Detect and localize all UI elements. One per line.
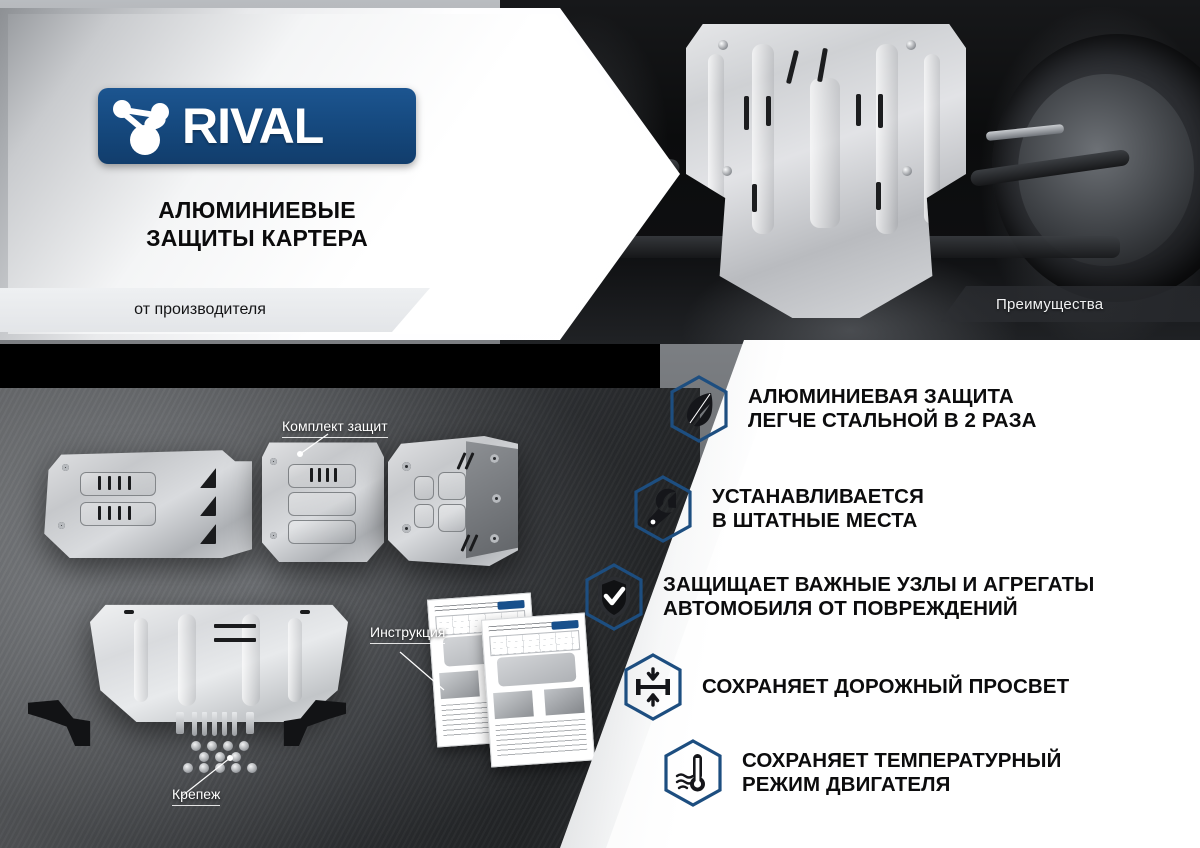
plate-hole-bl [58,522,65,529]
plate-slot-6 [108,506,111,520]
plate-bolt-tr [906,40,916,50]
large-plate-rib-4 [288,618,302,702]
plate-hole-br [490,534,499,543]
feature-line-1: АЛЮМИНИЕВАЯ ЗАЩИТА [748,385,1014,408]
feature-line-2: В ШТАТНЫЕ МЕСТА [712,509,924,533]
plate-pad-1 [414,476,434,500]
sheet-photo-1 [493,690,533,719]
plate-vent-1 [744,96,749,130]
feature-label: УСТАНАВЛИВАЕТСЯ В ШТАТНЫЕ МЕСТА [712,485,924,533]
plate-hole-tr [490,454,499,463]
feature-label: ЗАЩИЩАЕТ ВАЖНЫЕ УЗЛЫ И АГРЕГАТЫ АВТОМОБИ… [663,573,1094,621]
spacer-left [176,712,184,734]
feature-label: АЛЮМИНИЕВАЯ ЗАЩИТА ЛЕГЧЕ СТАЛЬНОЙ В 2 РА… [748,385,1037,433]
sheet-logo [498,600,525,610]
caption-kit: Комплект защит [282,418,388,438]
sheet-photo-2 [544,687,584,716]
advantages-ribbon-label: Преимущества [996,296,1103,313]
plate-hole-tl [270,458,277,465]
spacer-right [246,712,254,734]
feature-line-2: ЛЕГЧЕ СТАЛЬНОЙ В 2 РАЗА [748,409,1037,433]
plate-vent-5 [856,94,861,126]
feature-line-2: АВТОМОБИЛЯ ОТ ПОВРЕЖДЕНИЙ [663,597,1094,621]
headline-line-2: ЗАЩИТЫ КАРТЕРА [98,224,416,252]
feature-label: СОХРАНЯЕТ ТЕМПЕРАТУРНЫЙ РЕЖИМ ДВИГАТЕЛЯ [742,749,1061,797]
molecule-icon [106,95,180,157]
plate-hole-mr [492,494,501,503]
plate-slot-2 [318,468,321,482]
feature-item-protection: ЗАЩИЩАЕТ ВАЖНЫЕ УЗЛЫ И АГРЕГАТЫ АВТОМОБИ… [583,562,1094,632]
bolt-2 [202,712,207,736]
large-plate-vent-1 [214,624,256,628]
bolt-3 [212,712,217,736]
leader-line-instruction [400,652,456,694]
caption-instruction: Инструкция [370,624,445,644]
feature-line-1: ЗАЩИЩАЕТ ВАЖНЫЕ УЗЛЫ И АГРЕГАТЫ [663,573,1094,596]
ground-clearance-icon [622,652,684,722]
black-divider-strip [0,344,660,390]
washer-1 [191,741,201,751]
large-plate-rib-1 [134,618,148,702]
feature-item-weight: АЛЮМИНИЕВАЯ ЗАЩИТА ЛЕГЧЕ СТАЛЬНОЙ В 2 РА… [668,374,1037,444]
instruction-sheet-front [481,613,595,768]
headline-line-1: АЛЮМИНИЕВЫЕ [98,196,416,224]
feature-line-1: СОХРАНЯЕТ ТЕМПЕРАТУРНЫЙ [742,749,1061,772]
feature-line-1: УСТАНАВЛИВАЕТСЯ [712,485,924,508]
large-plate-hole-l [124,610,134,614]
plate-slot-3 [118,476,121,490]
plate-pad-1 [288,464,356,488]
plate-pad-2 [414,504,434,528]
caption-instruction-text: Инструкция [370,624,445,640]
washer-4 [239,741,249,751]
page-title: АЛЮМИНИЕВЫЕ ЗАЩИТЫ КАРТЕРА [98,196,416,252]
plate-face [90,600,348,722]
wrench-icon [632,474,694,544]
skid-plate-large [90,600,348,722]
bolt-5 [232,712,237,736]
skid-plate-left [40,448,252,558]
plate-pad-4 [438,504,466,532]
washer-3 [223,741,233,751]
plate-bolt-tl [718,40,728,50]
plate-pad-3 [288,520,356,544]
feature-item-temperature: СОХРАНЯЕТ ТЕМПЕРАТУРНЫЙ РЕЖИМ ДВИГАТЕЛЯ [662,738,1061,808]
caption-underline [370,643,445,644]
advantages-ribbon: Преимущества [940,286,1200,322]
plate-vent-3 [786,50,799,84]
washer-12 [247,763,257,773]
large-plate-vent-2 [214,638,256,642]
feature-line-2: РЕЖИМ ДВИГАТЕЛЯ [742,773,1061,797]
skid-plate-installed [686,18,966,318]
plate-bolt-br [902,166,912,176]
caption-fasteners-text: Крепеж [172,786,220,802]
plate-slot-2 [108,476,111,490]
shield-check-icon [583,562,645,632]
plate-hole-bl [270,532,277,539]
plate-slot-1 [310,468,313,482]
plate-vent-6 [878,94,883,128]
plate-slot-4 [334,468,337,482]
plate-hole-bl [402,524,411,533]
plate-slot-7 [118,506,121,520]
feature-label: СОХРАНЯЕТ ДОРОЖНЫЙ ПРОСВЕТ [702,675,1069,699]
caption-underline [172,805,220,806]
feature-item-clearance: СОХРАНЯЕТ ДОРОЖНЫЙ ПРОСВЕТ [622,652,1069,722]
plate-hole-tl [62,464,69,471]
rival-logo: RIVAL [98,88,416,164]
plate-vent-2 [766,96,771,126]
feature-item-installation: УСТАНАВЛИВАЕТСЯ В ШТАТНЫЕ МЕСТА [632,474,924,544]
large-plate-hole-r [300,610,310,614]
title-panel-inner [8,14,668,334]
large-plate-rib-2 [178,614,196,706]
plate-slot-4 [128,476,131,490]
plate-hole-tl [402,462,411,471]
feature-line-1: СОХРАНЯЕТ ДОРОЖНЫЙ ПРОСВЕТ [702,675,1069,698]
sheet-text-lines [495,719,587,757]
plate-vent-8 [876,182,881,210]
feather-icon [668,374,730,444]
plate-slot-5 [98,506,101,520]
sheet-diagram [497,652,576,687]
plate-bolt-bl [722,166,732,176]
rival-wordmark: RIVAL [182,101,323,151]
sheet-logo [552,620,579,630]
plate-rib-center [810,78,840,228]
subtitle-text: от производителя [134,301,266,319]
advertising-banner: Преимущества RIVAL АЛЮМИНИЕВЫЕ ЗАЩИТЫ КА… [0,0,1200,848]
bolt-1 [192,712,197,736]
bolt-4 [222,712,227,736]
plate-pad-3 [438,472,466,500]
washer-2 [207,741,217,751]
plate-vent-7 [752,184,757,212]
caption-underline [282,437,388,438]
plate-slot-8 [128,506,131,520]
skid-plate-middle [262,440,384,562]
caption-fasteners: Крепеж [172,786,220,806]
plate-slot-1 [98,476,101,490]
skid-plate-right [388,436,518,566]
plate-slot-3 [326,468,329,482]
thermometer-icon [662,738,724,808]
caption-kit-text: Комплект защит [282,418,388,434]
subtitle-band: от производителя [0,288,430,332]
plate-pad-2 [288,492,356,516]
